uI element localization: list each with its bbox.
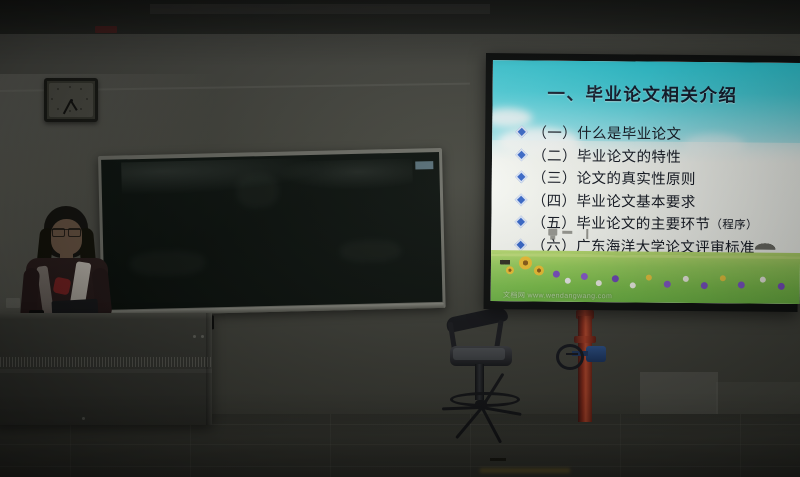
floor-yellow-line <box>480 468 570 473</box>
grass-top-edge <box>491 246 800 259</box>
bullet-text: 什么是毕业论文 <box>577 122 682 144</box>
stool-base-legs <box>444 404 524 412</box>
blackboard-clip <box>415 161 433 169</box>
lectern <box>0 313 212 425</box>
ceiling-red-marker <box>95 26 117 33</box>
clock-center-pin <box>70 99 73 102</box>
fire-standpipe <box>578 316 592 422</box>
slide-decor-icons <box>541 228 634 248</box>
blackboard-glare-secondary <box>277 159 413 192</box>
lectern-top-surface <box>0 313 212 319</box>
list-item: （三） 论文的真实性原则 <box>515 167 795 191</box>
lecture-hall-scene: 一、毕业论文相关介绍 （一） 什么是毕业论文 （二） 毕业论文的特性 <box>0 0 800 477</box>
list-item: （一） 什么是毕业论文 <box>515 122 795 146</box>
lectern-panel-line <box>0 369 212 373</box>
presentation-slide: 一、毕业论文相关介绍 （一） 什么是毕业论文 （二） 毕业论文的特性 <box>491 60 800 304</box>
diamond-bullet-icon <box>515 126 528 139</box>
slide-title: 一、毕业论文相关介绍 <box>492 81 800 109</box>
list-item: （四） 毕业论文基本要求 <box>515 189 795 213</box>
projection-screen: 一、毕业论文相关介绍 （一） 什么是毕业论文 （二） 毕业论文的特性 <box>484 53 800 312</box>
presenter-red-accent <box>53 277 72 296</box>
bullet-index: （一） <box>532 122 577 143</box>
bullet-suffix: （程序） <box>710 216 758 232</box>
office-stool <box>444 312 528 420</box>
floor-marking <box>490 458 506 461</box>
projection-screen-surface: 一、毕业论文相关介绍 （一） 什么是毕业论文 （二） 毕业论文的特性 <box>491 60 800 304</box>
bullet-index: （三） <box>532 167 577 188</box>
bullet-text: 毕业论文基本要求 <box>576 190 695 212</box>
blackboard-surface <box>101 152 442 310</box>
bullet-text: 论文的真实性原则 <box>577 167 696 189</box>
standpipe-flange <box>574 336 596 343</box>
ceiling-beam <box>150 4 490 14</box>
list-item: （二） 毕业论文的特性 <box>515 144 795 168</box>
diamond-bullet-icon <box>515 193 528 206</box>
wall-clock <box>44 78 98 122</box>
lectern-vent-grille <box>0 357 212 367</box>
slide-watermark: 文档网 www.wendangwang.com <box>503 290 612 301</box>
standpipe-valve-body <box>586 346 606 362</box>
standpipe-valve-spoke <box>566 353 578 355</box>
diamond-bullet-icon <box>514 216 527 229</box>
lectern-right-edge <box>206 313 212 425</box>
standpipe-valve-wheel <box>556 344 584 370</box>
stool-seat-cushion <box>453 348 505 360</box>
bullet-index: （二） <box>532 144 577 165</box>
slide-grass-band: 文档网 www.wendangwang.com <box>491 250 800 304</box>
bullet-index: （四） <box>532 189 577 210</box>
diamond-bullet-icon <box>515 148 528 161</box>
presenter-glasses-bridge <box>52 229 80 236</box>
bullet-text: 毕业论文的特性 <box>577 145 682 167</box>
blackboard <box>98 148 446 316</box>
diamond-bullet-icon <box>515 171 528 184</box>
